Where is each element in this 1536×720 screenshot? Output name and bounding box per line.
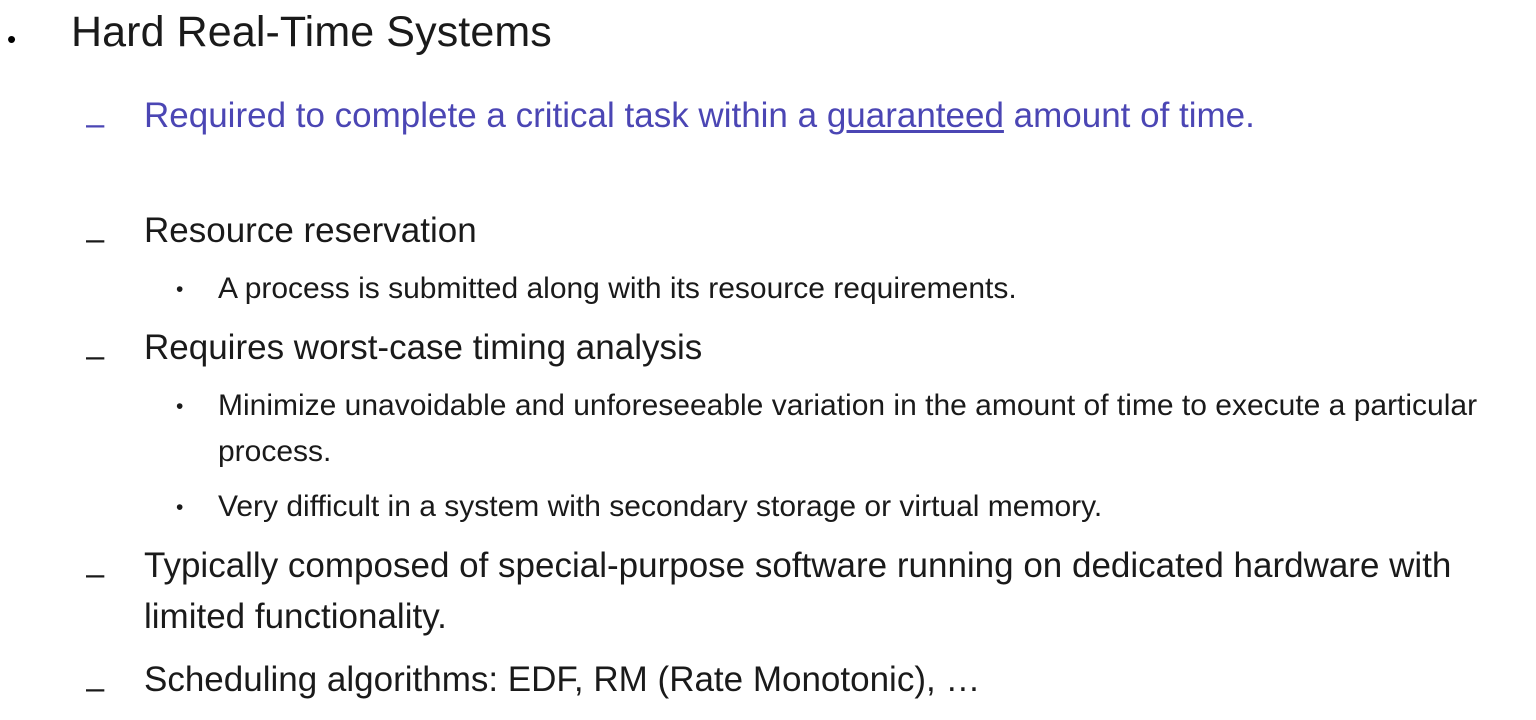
bullet-dash-icon: – [86, 557, 126, 590]
bullet-dash-icon: – [86, 222, 126, 255]
bullet-text-very-difficult: Very difficult in a system with secondar… [218, 484, 1478, 530]
bullet-text-required-emphasis: guaranteed [827, 96, 1004, 135]
bullet-dash-icon: – [86, 671, 126, 704]
bullet-dot-icon: • [7, 26, 31, 52]
bullet-text-resource-reservation: Resource reservation [144, 205, 1474, 256]
bullet-text-required-part2: amount of time. [1004, 96, 1255, 135]
bullet-text-a-process: A process is submitted along with its re… [218, 266, 1478, 312]
bullet-text-required-part1: Required to complete a critical task wit… [144, 96, 827, 135]
bullet-text-typically-composed: Typically composed of special-purpose so… [144, 540, 1474, 642]
bullet-text-scheduling-algorithms: Scheduling algorithms: EDF, RM (Rate Mon… [144, 654, 1474, 705]
bullet-dot-icon: • [176, 396, 200, 417]
bullet-text-minimize-variation: Minimize unavoidable and unforeseeable v… [218, 383, 1478, 475]
bullet-text-required: Required to complete a critical task wit… [144, 90, 1474, 141]
bullet-text-requires-worst-case: Requires worst-case timing analysis [144, 322, 1474, 373]
page-title: Hard Real-Time Systems [71, 6, 1471, 58]
bullet-dash-icon: – [86, 107, 126, 140]
bullet-dot-icon: • [176, 279, 200, 300]
bullet-dot-icon: • [176, 497, 200, 518]
slide-canvas: • Hard Real-Time Systems – Required to c… [0, 0, 1536, 720]
bullet-dash-icon: – [86, 339, 126, 372]
